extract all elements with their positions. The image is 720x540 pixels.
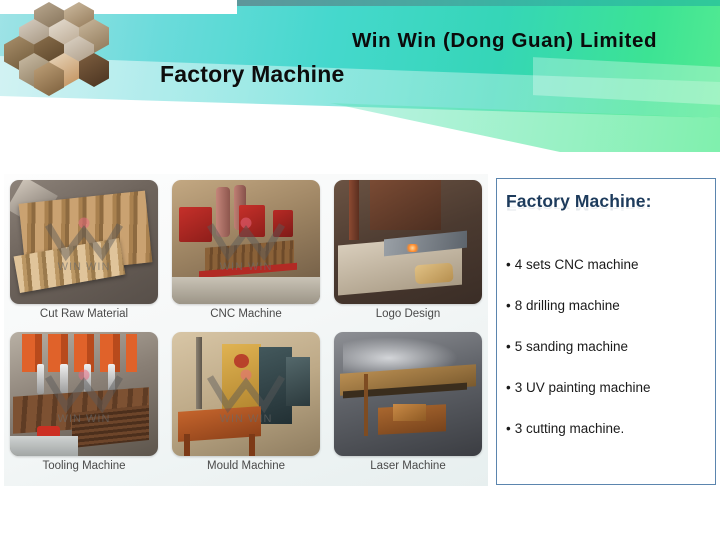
list-item: •4 sets CNC machine bbox=[506, 257, 711, 272]
photo-laser-machine[interactable] bbox=[334, 332, 482, 456]
gallery-caption: Tooling Machine bbox=[10, 460, 158, 472]
gallery-caption: Cut Raw Material bbox=[10, 308, 158, 320]
gallery-caption: Mould Machine bbox=[172, 460, 320, 472]
photo-cut-raw-material[interactable]: WIN WIN bbox=[10, 180, 158, 304]
photo-mould-machine[interactable]: WIN WIN bbox=[172, 332, 320, 456]
company-logo bbox=[2, 2, 98, 90]
list-item: •3 cutting machine. bbox=[506, 421, 711, 436]
panel-heading: Factory Machine: bbox=[506, 191, 652, 212]
list-item-label: 8 drilling machine bbox=[515, 298, 620, 313]
bullet-icon: • bbox=[506, 380, 511, 395]
bullet-icon: • bbox=[506, 339, 511, 354]
gallery-item[interactable]: WIN WIN CNC Machine bbox=[172, 180, 320, 304]
slide-canvas: Win Win (Dong Guan) Limited Factory Mach… bbox=[0, 0, 720, 540]
gallery-item[interactable]: WIN WIN Cut Raw Material bbox=[10, 180, 158, 304]
photo-cnc-machine[interactable]: WIN WIN bbox=[172, 180, 320, 304]
gallery-item[interactable]: WIN WIN Mould Machine bbox=[172, 332, 320, 456]
bullet-icon: • bbox=[506, 298, 511, 313]
list-item-label: 3 UV painting machine bbox=[515, 380, 651, 395]
gallery-caption: Logo Design bbox=[334, 308, 482, 320]
factory-machine-info-panel: Factory Machine: Factory Machine: •4 set… bbox=[496, 178, 716, 485]
gallery-item[interactable]: WIN WIN Tooling Machine bbox=[10, 332, 158, 456]
bullet-icon: • bbox=[506, 421, 511, 436]
bullet-icon: • bbox=[506, 257, 511, 272]
list-item-label: 5 sanding machine bbox=[515, 339, 628, 354]
list-item-label: 4 sets CNC machine bbox=[515, 257, 639, 272]
photo-logo-design[interactable] bbox=[334, 180, 482, 304]
list-item-label: 3 cutting machine. bbox=[515, 421, 625, 436]
list-item: •5 sanding machine bbox=[506, 339, 711, 354]
list-item: •3 UV painting machine bbox=[506, 380, 711, 395]
factory-photo-grid: WIN WIN Cut Raw Material WIN WIN bbox=[4, 174, 488, 486]
page-title: Factory Machine bbox=[160, 61, 345, 88]
photo-tooling-machine[interactable]: WIN WIN bbox=[10, 332, 158, 456]
company-title: Win Win (Dong Guan) Limited bbox=[352, 29, 657, 53]
gallery-caption: CNC Machine bbox=[172, 308, 320, 320]
gallery-item[interactable]: Laser Machine bbox=[334, 332, 482, 456]
gallery-caption: Laser Machine bbox=[334, 460, 482, 472]
gallery-item[interactable]: Logo Design bbox=[334, 180, 482, 304]
list-item: •8 drilling machine bbox=[506, 298, 711, 313]
banner-top-strip bbox=[237, 0, 720, 6]
machine-list: •4 sets CNC machine •8 drilling machine … bbox=[506, 257, 711, 462]
